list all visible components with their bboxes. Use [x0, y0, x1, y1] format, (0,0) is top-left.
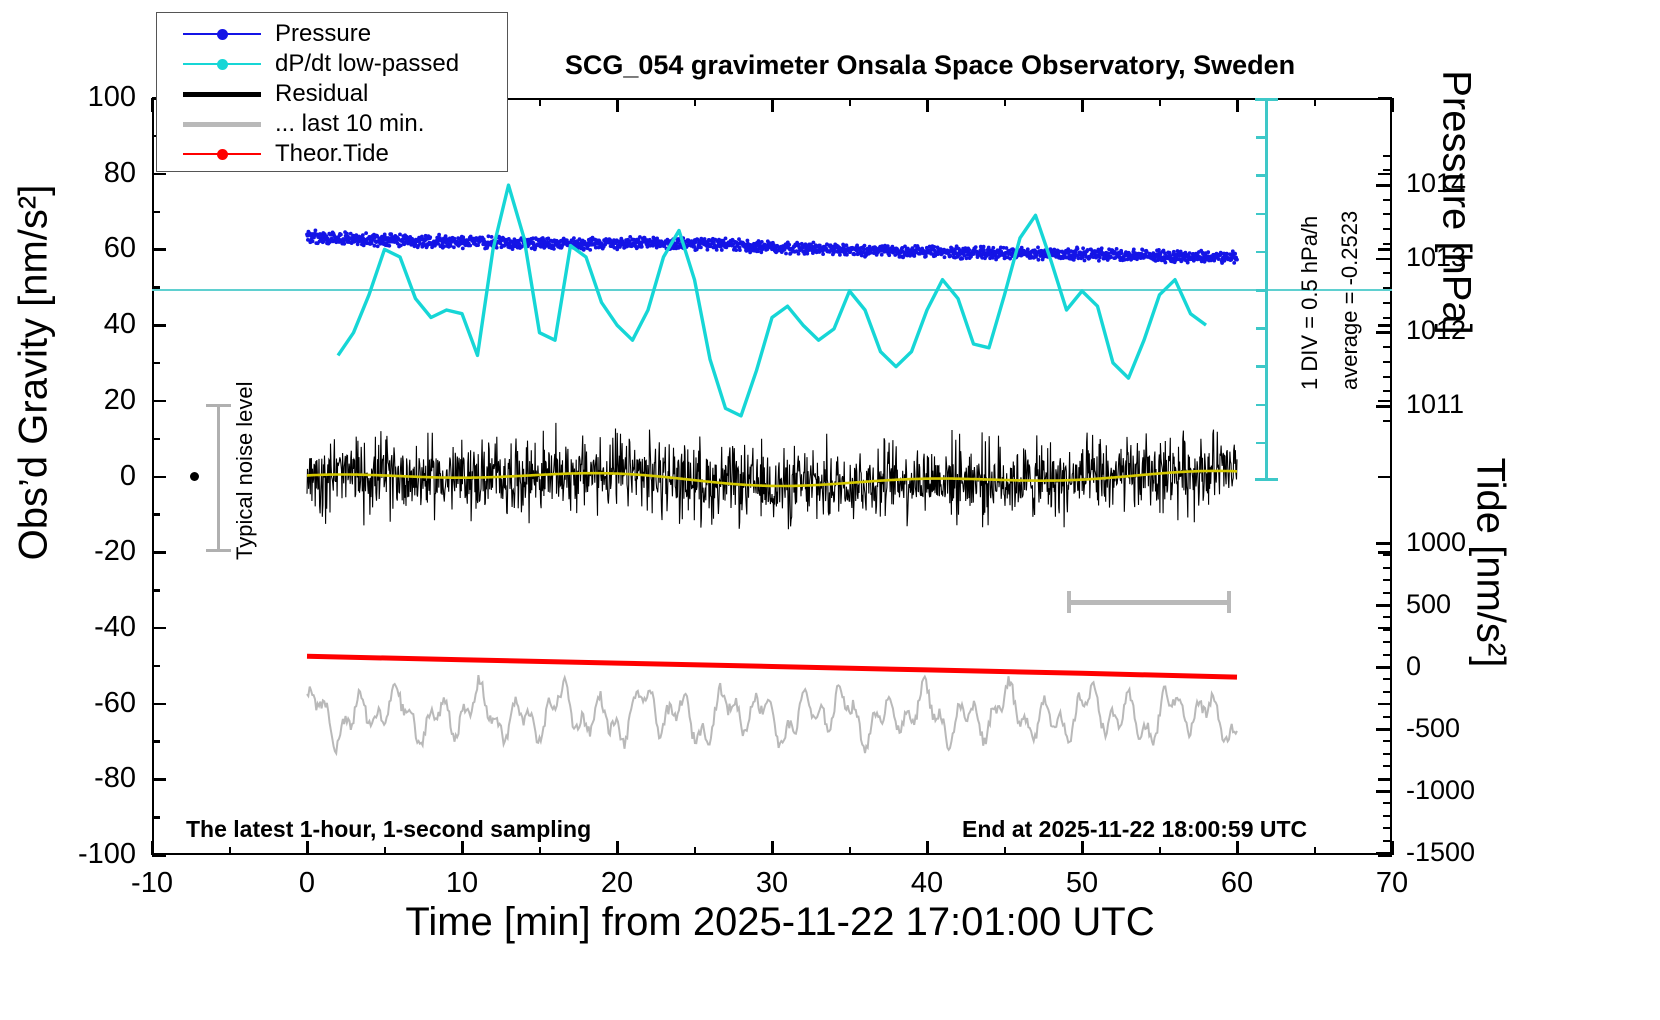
x-tick-bottom-minor	[849, 847, 852, 855]
x-axis-tick-label: 60	[1192, 869, 1282, 898]
last-10-min-span-right-cap	[1227, 591, 1231, 613]
y-tick-right-major	[1378, 324, 1392, 327]
x-tick-bottom	[151, 841, 154, 855]
x-tick-top-minor	[694, 98, 697, 106]
y-tick-tide-minor	[1383, 765, 1392, 767]
y-axis-left-title: Obs’d Gravity [nm/s²]	[12, 53, 57, 693]
y-tick-tide-minor	[1383, 703, 1392, 705]
y-tick-tide-minor	[1383, 840, 1392, 842]
y-tick-left-minor	[152, 513, 160, 516]
x-axis-tick-label: 10	[417, 869, 507, 898]
last-10-min-span-bar	[1067, 600, 1231, 605]
y-tick-pressure-minor	[1383, 243, 1392, 245]
y-tick-tide-minor	[1383, 629, 1392, 631]
x-axis-tick-label: 40	[882, 869, 972, 898]
legend-swatch-icon	[183, 55, 261, 73]
x-axis-tick-label: 0	[262, 869, 352, 898]
x-axis-title: Time [min] from 2025-11-22 17:01:00 UTC	[180, 900, 1380, 945]
y-tick-pressure-minor	[1383, 213, 1392, 215]
y-tick-left	[152, 324, 166, 327]
x-axis-tick-label: 70	[1347, 869, 1437, 898]
dpdt-scale-cap-top	[1255, 98, 1278, 101]
legend-item-label: dP/dt low-passed	[275, 50, 459, 78]
y-tick-tide-minor	[1383, 728, 1392, 730]
x-tick-top-minor	[1314, 98, 1317, 106]
x-tick-bottom-minor	[384, 847, 387, 855]
y-tick-left	[152, 627, 166, 630]
y-tick-left-minor	[152, 211, 160, 214]
y-axis-tide-tick-label: -1500	[1406, 839, 1526, 866]
dpdt-baseline	[152, 289, 1392, 291]
y-tick-right-major	[1378, 400, 1392, 403]
dpdt-scale-tick	[1256, 289, 1268, 292]
x-tick-bottom	[1236, 841, 1239, 855]
noise-level-cap-top	[206, 404, 231, 407]
noise-level-label: Typical noise level	[232, 381, 258, 560]
x-tick-top	[151, 98, 154, 112]
x-tick-bottom	[926, 841, 929, 855]
y-tick-pressure-minor	[1383, 302, 1392, 304]
y-tick-tide-minor	[1383, 716, 1392, 718]
plot-area	[152, 98, 1392, 855]
x-tick-top-minor	[849, 98, 852, 106]
legend-item-label: Residual	[275, 80, 368, 108]
x-tick-bottom	[616, 841, 619, 855]
dpdt-scale-tick	[1256, 174, 1268, 177]
dpdt-scale-tick	[1256, 327, 1268, 330]
y-tick-tide-minor	[1383, 778, 1392, 780]
y-tick-left-minor	[152, 362, 160, 365]
x-tick-bottom-minor	[694, 847, 697, 855]
x-axis-tick-label: -10	[107, 869, 197, 898]
x-tick-bottom-minor	[1004, 847, 1007, 855]
dpdt-scale-division-label: 1 DIV = 0.5 hPa/h	[1297, 216, 1323, 390]
y-tick-tide-major	[1376, 852, 1392, 855]
caption-end-time: End at 2025-11-22 18:00:59 UTC	[962, 816, 1307, 843]
y-axis-left-tick-label: 80	[56, 159, 136, 188]
x-tick-top	[1081, 98, 1084, 112]
y-tick-right-major	[1378, 173, 1392, 176]
y-tick-tide-minor	[1383, 691, 1392, 693]
x-tick-bottom-minor	[539, 847, 542, 855]
y-axis-left-tick-label: -100	[56, 840, 136, 869]
y-axis-left-tick-label: -20	[56, 537, 136, 566]
dpdt-scale-tick	[1256, 251, 1268, 254]
legend-swatch-icon	[183, 25, 261, 43]
y-tick-tide-minor	[1383, 802, 1392, 804]
x-tick-top-minor	[1004, 98, 1007, 106]
noise-level-bar	[217, 404, 220, 552]
y-axis-left-tick-label: -60	[56, 689, 136, 718]
y-tick-pressure-minor	[1383, 331, 1392, 333]
noise-level-center-dot	[190, 472, 199, 481]
legend-swatch-icon	[183, 85, 261, 103]
y-tick-pressure-minor	[1383, 184, 1392, 186]
legend-item-label: ... last 10 min.	[275, 110, 424, 138]
x-axis-tick-label: 50	[1037, 869, 1127, 898]
y-tick-left	[152, 703, 166, 706]
y-axis-left-tick-label: 40	[56, 310, 136, 339]
y-tick-tide-minor	[1383, 753, 1392, 755]
y-tick-right-major	[1378, 97, 1392, 100]
y-tick-pressure-minor	[1383, 361, 1392, 363]
y-axis-left-tick-label: 100	[56, 83, 136, 112]
legend-item-3[interactable]: ... last 10 min.	[157, 109, 507, 139]
y-tick-pressure-minor	[1383, 155, 1392, 157]
y-tick-right-major	[1378, 476, 1392, 479]
y-tick-left	[152, 778, 166, 781]
y-tick-pressure-minor	[1383, 199, 1392, 201]
y-tick-left	[152, 173, 166, 176]
x-tick-bottom	[1081, 841, 1084, 855]
dpdt-scale-cap-bottom	[1255, 478, 1278, 481]
y-tick-pressure-minor	[1383, 169, 1392, 171]
y-tick-tide-minor	[1383, 678, 1392, 680]
legend-swatch-icon	[183, 145, 261, 163]
y-tick-left-minor	[152, 286, 160, 289]
x-tick-top	[926, 98, 929, 112]
noise-level-cap-bottom	[206, 549, 231, 552]
x-tick-top	[1236, 98, 1239, 112]
y-tick-pressure-minor	[1383, 272, 1392, 274]
y-axis-left-tick-label: -40	[56, 613, 136, 642]
dpdt-scale-tick	[1256, 404, 1268, 407]
legend-item-1[interactable]: dP/dt low-passed	[157, 49, 507, 79]
x-tick-bottom	[306, 841, 309, 855]
legend-item-4[interactable]: Theor.Tide	[157, 139, 507, 169]
caption-sampling: The latest 1-hour, 1-second sampling	[186, 816, 591, 843]
y-axis-left-tick-label: 60	[56, 234, 136, 263]
y-tick-left	[152, 248, 166, 251]
legend-item-label: Pressure	[275, 20, 371, 48]
y-tick-pressure-minor	[1383, 405, 1392, 407]
last-10-min-span-left-cap	[1067, 591, 1071, 613]
x-tick-bottom-minor	[1159, 847, 1162, 855]
y-tick-pressure-minor	[1383, 346, 1392, 348]
y-tick-tide-minor	[1383, 815, 1392, 817]
y-tick-tide-minor	[1383, 827, 1392, 829]
x-tick-top	[616, 98, 619, 112]
y-tick-pressure-minor	[1383, 287, 1392, 289]
y-tick-left-minor	[152, 438, 160, 441]
x-tick-bottom-minor	[1314, 847, 1317, 855]
y-tick-pressure-minor	[1383, 317, 1392, 319]
y-tick-pressure-minor	[1383, 228, 1392, 230]
y-tick-tide-minor	[1383, 641, 1392, 643]
x-axis-tick-label: 20	[572, 869, 662, 898]
y-tick-left-minor	[152, 589, 160, 592]
y-tick-tide-minor	[1383, 542, 1392, 544]
legend-item-0[interactable]: Pressure	[157, 19, 507, 49]
y-tick-left	[152, 400, 166, 403]
y-tick-tide-minor	[1383, 567, 1392, 569]
dpdt-scale-tick	[1256, 136, 1268, 139]
gravimeter-plot-page: SCG_054 gravimeter Onsala Space Observat…	[0, 0, 1660, 1020]
y-axis-left-tick-label: 0	[56, 462, 136, 491]
x-tick-bottom	[461, 841, 464, 855]
y-tick-tide-minor	[1383, 790, 1392, 792]
y-axis-left-tick-label: -80	[56, 764, 136, 793]
y-tick-right-major	[1378, 248, 1392, 251]
y-axis-tide-tick-label: -1000	[1406, 777, 1526, 804]
y-tick-tide-minor	[1383, 616, 1392, 618]
dpdt-scale-tick	[1256, 442, 1268, 445]
x-tick-top	[771, 98, 774, 112]
y-tick-pressure-minor	[1383, 390, 1392, 392]
y-tick-pressure-minor	[1383, 376, 1392, 378]
legend[interactable]: PressuredP/dt low-passedResidual... last…	[156, 12, 508, 172]
dpdt-scale-tick	[1256, 365, 1268, 368]
y-tick-pressure-minor	[1383, 420, 1392, 422]
page-title: SCG_054 gravimeter Onsala Space Observat…	[430, 50, 1430, 81]
y-tick-left	[152, 476, 166, 479]
y-tick-left	[152, 854, 166, 857]
y-tick-tide-minor	[1383, 579, 1392, 581]
y-tick-pressure-minor	[1383, 258, 1392, 260]
x-axis-tick-label: 30	[727, 869, 817, 898]
y-tick-left-minor	[152, 740, 160, 743]
x-tick-top-minor	[539, 98, 542, 106]
y-tick-right-major	[1378, 551, 1392, 554]
x-tick-top-minor	[1159, 98, 1162, 106]
y-axis-left-tick-label: 20	[56, 386, 136, 415]
x-tick-bottom-minor	[229, 847, 232, 855]
dpdt-average-label: average = -0.2523	[1337, 211, 1363, 390]
y-tick-left-minor	[152, 816, 160, 819]
x-tick-bottom	[771, 841, 774, 855]
y-tick-tide-minor	[1383, 604, 1392, 606]
y-axis-tide-title: Tide [nm/s²]	[1468, 363, 1513, 763]
y-tick-tide-minor	[1383, 592, 1392, 594]
x-tick-top	[1391, 98, 1394, 112]
y-tick-left-minor	[152, 665, 160, 668]
dpdt-scale-tick	[1256, 213, 1268, 216]
y-tick-tide-minor	[1383, 740, 1392, 742]
legend-item-label: Theor.Tide	[275, 140, 389, 168]
y-tick-tide-minor	[1383, 654, 1392, 656]
y-tick-left	[152, 551, 166, 554]
legend-item-2[interactable]: Residual	[157, 79, 507, 109]
legend-swatch-icon	[183, 115, 261, 133]
y-tick-tide-minor	[1383, 666, 1392, 668]
y-tick-tide-minor	[1383, 554, 1392, 556]
